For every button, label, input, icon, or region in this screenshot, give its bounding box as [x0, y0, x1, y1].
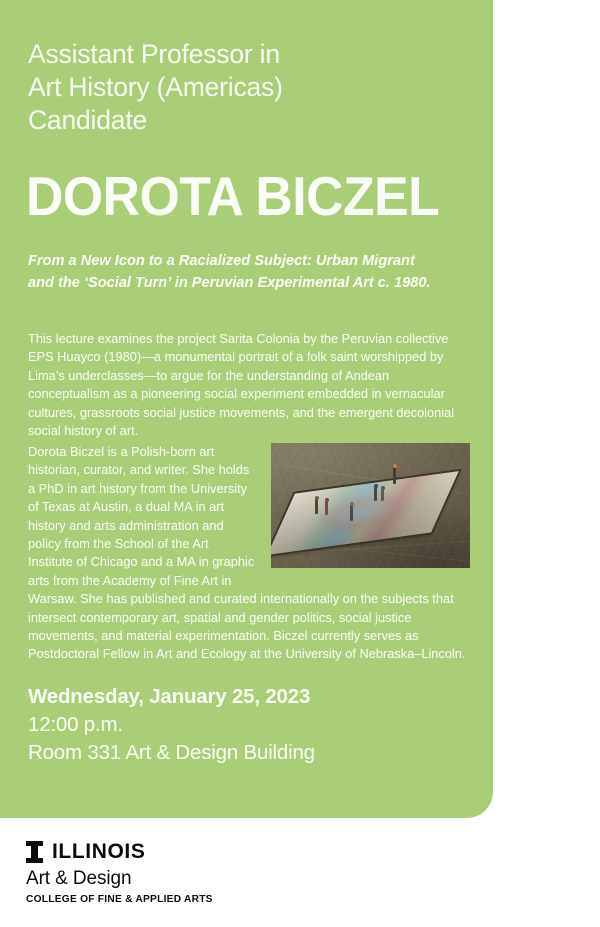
- photo-figure: [325, 501, 328, 515]
- photo-figure: [374, 487, 377, 501]
- event-date: Wednesday, January 25, 2023: [28, 683, 458, 711]
- event-location: Room 331 Art & Design Building: [28, 739, 458, 767]
- candidate-name: DOROTA BICZEL: [26, 167, 439, 225]
- footer-logo-lockup: ILLINOIS Art & Design COLLEGE OF FINE & …: [26, 840, 213, 907]
- photo-figure: [393, 467, 396, 484]
- position-kicker: Assistant Professor in Art History (Amer…: [28, 38, 448, 137]
- block-i-icon: [26, 841, 43, 863]
- illinois-wordmark: ILLINOIS: [52, 841, 145, 863]
- college-name: COLLEGE OF FINE & APPLIED ARTS: [26, 893, 213, 907]
- event-details: Wednesday, January 25, 2023 12:00 p.m. R…: [28, 683, 458, 767]
- illinois-logo-row: ILLINOIS: [26, 840, 213, 864]
- event-time: 12:00 p.m.: [28, 711, 458, 739]
- photo-figure: [381, 489, 384, 501]
- speaker-bio-block: Dorota Biczel is a Polish-born art histo…: [28, 443, 470, 664]
- poster-content: Assistant Professor in Art History (Amer…: [28, 0, 472, 818]
- talk-title: From a New Icon to a Racialized Subject:…: [28, 250, 458, 294]
- talk-abstract: This lecture examines the project Sarita…: [28, 330, 470, 440]
- artwork-photo: [271, 443, 470, 568]
- unit-name: Art & Design: [26, 866, 213, 891]
- photo-figure: [350, 505, 353, 521]
- photo-figure: [315, 499, 318, 514]
- poster-green-panel: Assistant Professor in Art History (Amer…: [0, 0, 493, 818]
